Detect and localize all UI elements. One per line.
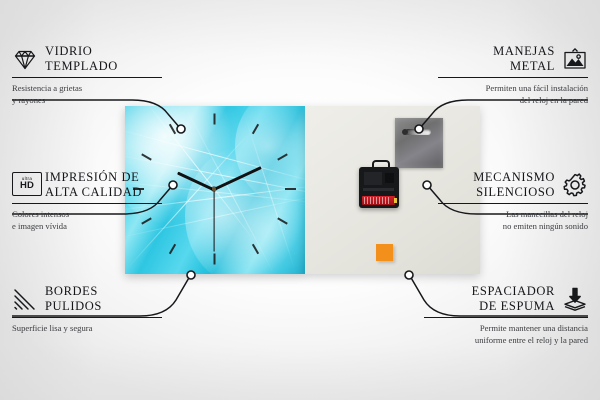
- callout-manejas-metal[interactable]: MANEJAS METAL Permiten una fácil instala…: [438, 44, 588, 107]
- callout-title-line2: DE ESPUMA: [479, 299, 555, 313]
- callout-subtitle-line1: Superficie lisa y segura: [12, 323, 92, 333]
- callout-bordes-pulidos[interactable]: BORDES PULIDOS Superficie lisa y segura: [12, 284, 162, 334]
- battery: [362, 196, 395, 205]
- callout-rule: [438, 77, 588, 78]
- clock-hand-second: [213, 190, 214, 252]
- callout-subtitle-line1: Permite mantener una distancia: [480, 323, 588, 333]
- callout-subtitle-line2: uniforme entre el reloj y la pared: [475, 335, 588, 345]
- callout-subtitle-line2: y rayones: [12, 95, 45, 105]
- callout-title-line2: METAL: [510, 59, 555, 73]
- callout-title-line2: TEMPLADO: [45, 59, 118, 73]
- orange-foam-spacer: [376, 244, 393, 261]
- callout-title-line1: BORDES: [45, 284, 98, 298]
- callout-subtitle-line1: Resistencia a grietas: [12, 83, 82, 93]
- callout-title-line2: PULIDOS: [45, 299, 102, 313]
- gear-icon: [562, 172, 588, 198]
- callout-title-line1: IMPRESIÓN DE: [45, 170, 139, 184]
- callout-title-line2: SILENCIOSO: [476, 185, 555, 199]
- callout-title-line2: ALTA CALIDAD: [45, 185, 142, 199]
- callout-vidrio-templado[interactable]: VIDRIO TEMPLADO Resistencia a grietas y …: [12, 44, 162, 107]
- callout-mecanismo-silencioso[interactable]: MECANISMO SILENCIOSO Las manecillas del …: [438, 170, 588, 233]
- callout-subtitle-line1: Las manecillas del reloj: [506, 209, 588, 219]
- callout-impresion-alta-calidad[interactable]: ultra HD IMPRESIÓN DE ALTA CALIDAD Color…: [12, 170, 162, 233]
- clock-mechanism: [359, 167, 399, 208]
- mechanism-hanging-loop: [372, 160, 390, 171]
- ultra-hd-icon: ultra HD: [12, 172, 38, 198]
- callout-subtitle-line1: Permiten una fácil instalación: [486, 83, 588, 93]
- infographic-root: VIDRIO TEMPLADO Resistencia a grietas y …: [0, 0, 600, 400]
- callout-rule: [424, 317, 588, 318]
- polished-edge-icon: [12, 286, 38, 312]
- diamond-icon: [12, 46, 38, 72]
- callout-title-line1: MECANISMO: [473, 170, 555, 184]
- callout-rule: [12, 317, 162, 318]
- callout-subtitle-line1: Colores intensos: [12, 209, 69, 219]
- callout-subtitle-line2: e imagen vívida: [12, 221, 67, 231]
- callout-rule: [12, 203, 162, 204]
- callout-title-line1: MANEJAS: [493, 44, 555, 58]
- callout-subtitle-line2: no emiten ningún sonido: [503, 221, 588, 231]
- picture-frame-hanger-icon: [562, 46, 588, 72]
- hanger-keyhole-slot: [405, 129, 431, 135]
- product-image: [125, 106, 480, 274]
- callout-espaciador-espuma[interactable]: ESPACIADOR DE ESPUMA Permite mantener un…: [424, 284, 588, 347]
- callout-rule: [12, 77, 162, 78]
- ultra-hd-large-text: HD: [20, 181, 34, 191]
- callout-rule: [438, 203, 588, 204]
- callout-title-line1: ESPACIADOR: [472, 284, 555, 298]
- callout-title-line1: VIDRIO: [45, 44, 92, 58]
- arrow-down-foam-icon: [562, 286, 588, 312]
- metal-hanger-plate: [395, 118, 443, 168]
- callout-subtitle-line2: del reloj en la pared: [520, 95, 588, 105]
